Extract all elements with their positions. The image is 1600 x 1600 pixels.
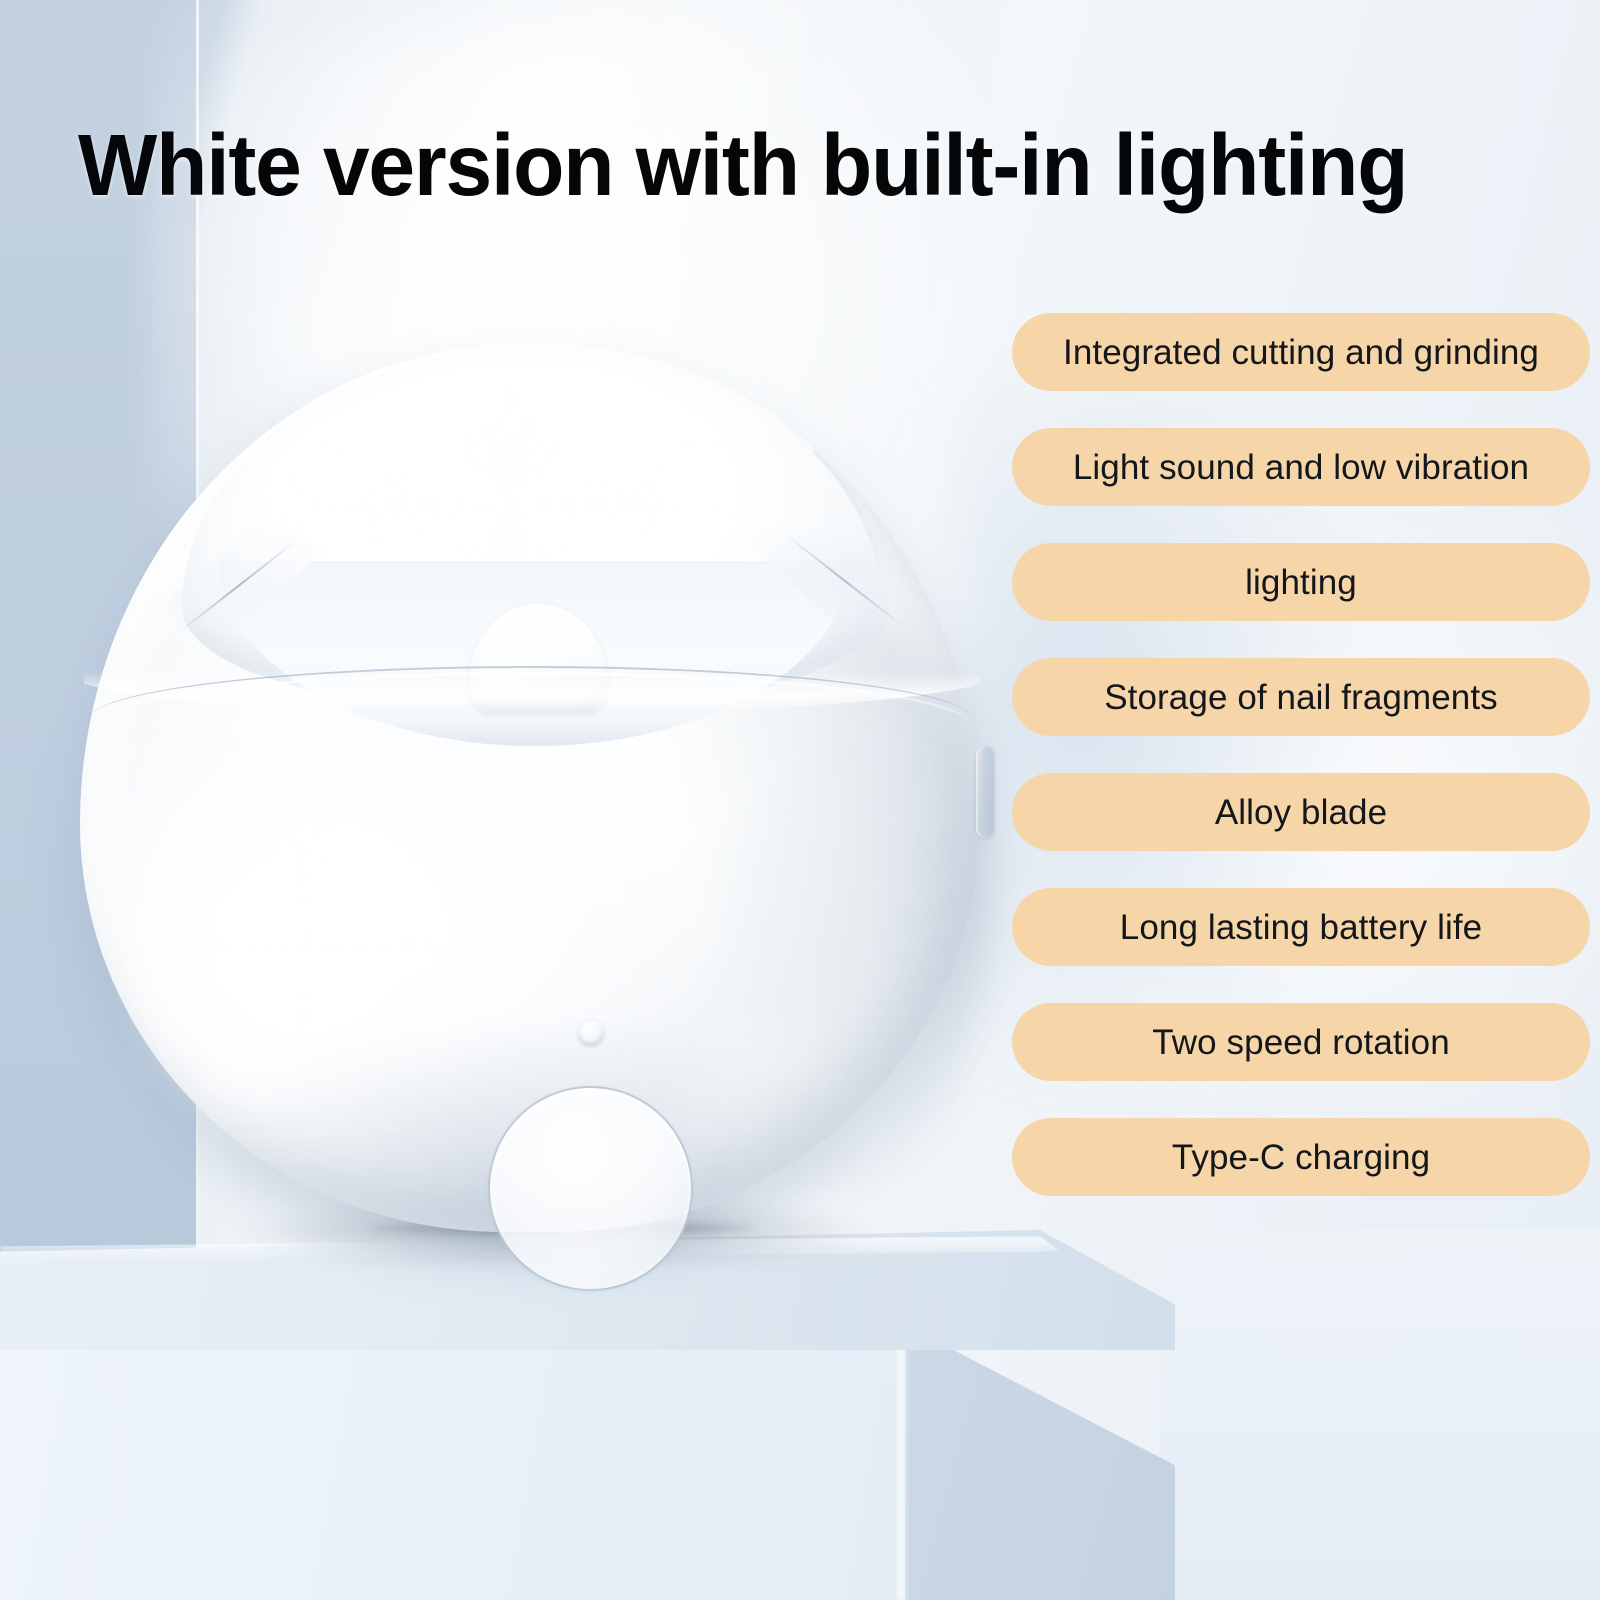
feature-pill: Type-C charging [1012, 1118, 1590, 1196]
power-button[interactable] [488, 1086, 693, 1291]
led-indicator [578, 1020, 604, 1046]
feature-pill: Storage of nail fragments [1012, 658, 1590, 736]
feature-pill-label: Alloy blade [1215, 795, 1387, 830]
pedestal-front-face [0, 1326, 905, 1600]
product-feature-banner: White version with built-in lighting Int… [0, 0, 1600, 1600]
feature-pill-label: Two speed rotation [1152, 1025, 1450, 1060]
feature-pill-label: Storage of nail fragments [1104, 680, 1498, 715]
feature-pill-label: Integrated cutting and grinding [1063, 335, 1539, 370]
feature-pill: Long lasting battery life [1012, 888, 1590, 966]
feature-pill: Integrated cutting and grinding [1012, 313, 1590, 391]
page-title: White version with built-in lighting [78, 122, 1458, 209]
feature-pill: lighting [1012, 543, 1590, 621]
feature-pill-label: Type-C charging [1172, 1140, 1430, 1175]
feature-pill-label: Long lasting battery life [1120, 910, 1482, 945]
feature-pill-label: lighting [1245, 565, 1357, 600]
electric-nail-clipper [70, 336, 1000, 1266]
feature-pill: Two speed rotation [1012, 1003, 1590, 1081]
pedestal-right-backdrop [1160, 1230, 1600, 1600]
feature-pill-label: Light sound and low vibration [1073, 450, 1529, 485]
feature-list: Integrated cutting and grinding Light so… [1012, 313, 1590, 1233]
feature-pill: Alloy blade [1012, 773, 1590, 851]
side-button[interactable] [976, 746, 994, 838]
feature-pill: Light sound and low vibration [1012, 428, 1590, 506]
